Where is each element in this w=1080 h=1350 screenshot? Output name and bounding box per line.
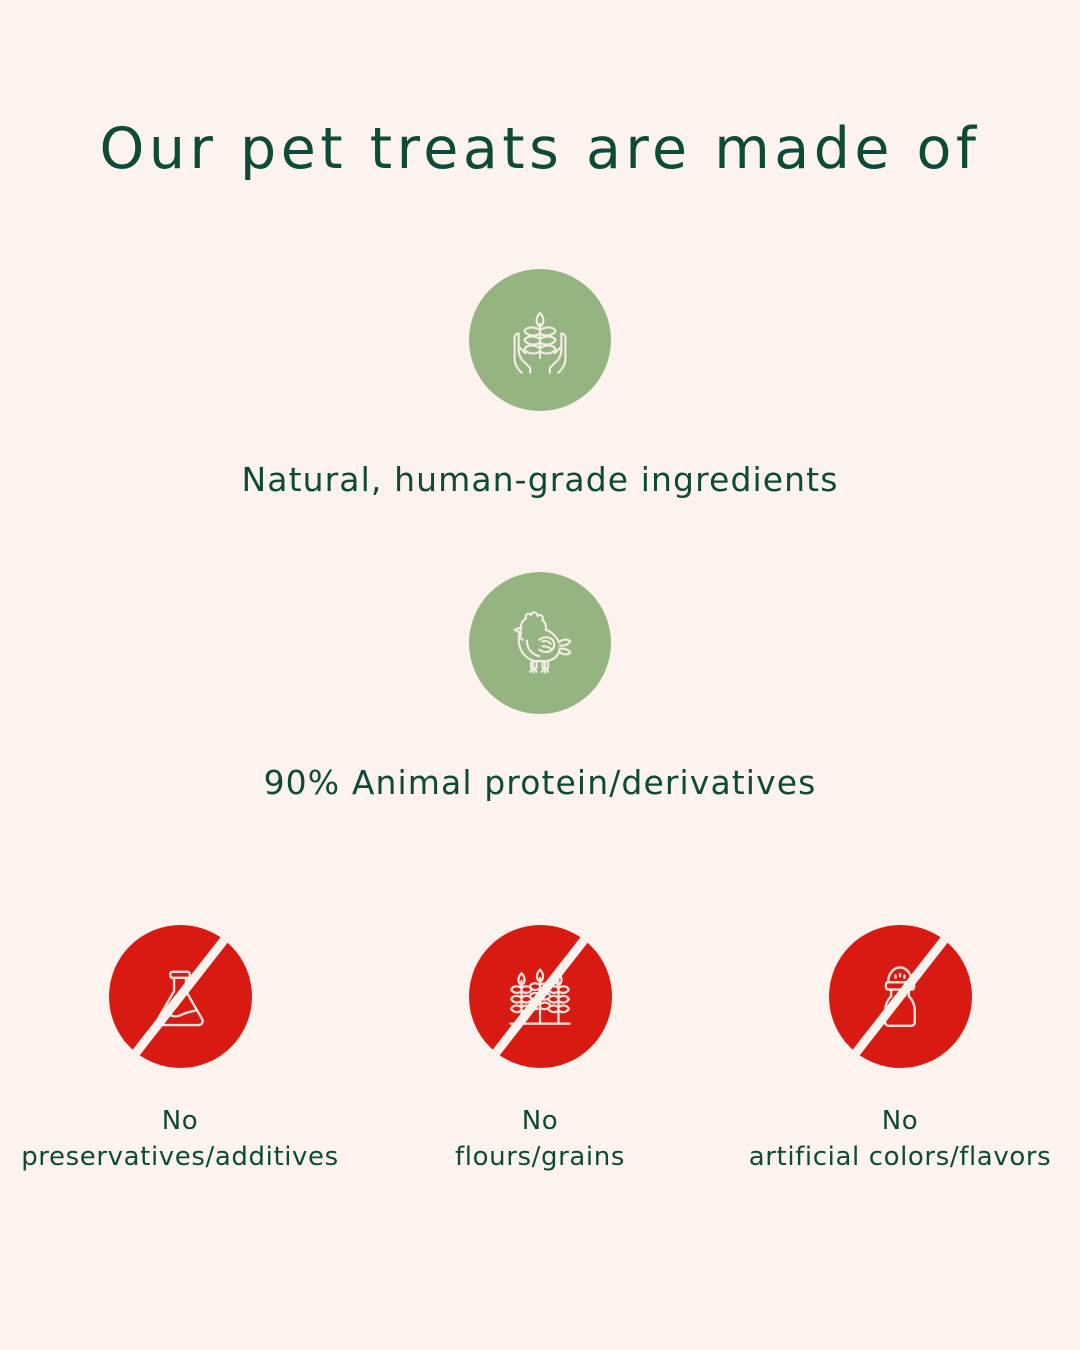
slash-line [120, 925, 240, 1068]
chicken-icon [469, 572, 611, 714]
feature-natural-ingredients: Natural, human-grade ingredients [0, 269, 1080, 500]
page-title: Our pet treats are made of [0, 118, 1080, 181]
exclusion-label: Nopreservatives/additives [21, 1104, 339, 1176]
exclusion-grains: Noflours/grains [360, 925, 720, 1176]
exclusion-artificial-colors: Noartificial colors/flavors [720, 925, 1080, 1176]
red-circle-background [829, 925, 972, 1068]
slash-line [480, 925, 600, 1068]
exclusion-label-line2: preservatives/additives [21, 1142, 339, 1172]
feature-animal-protein: 90% Animal protein/derivatives [0, 572, 1080, 803]
hands-holding-wheat-icon [469, 269, 611, 411]
feature-label: 90% Animal protein/derivatives [0, 762, 1080, 803]
exclusion-label-line1: No [162, 1106, 199, 1136]
red-circle-background [109, 925, 252, 1068]
exclusion-label-line2: flours/grains [455, 1142, 625, 1172]
exclusions-row: Nopreservatives/additives [0, 925, 1080, 1176]
no-wheat-icon [469, 925, 612, 1068]
exclusion-label-line2: artificial colors/flavors [749, 1142, 1052, 1172]
slash-line [840, 925, 960, 1068]
red-circle-background [469, 925, 612, 1068]
infographic-poster: Our pet treats are made of [0, 0, 1080, 1350]
no-salt-shaker-icon [829, 925, 972, 1068]
exclusion-preservatives: Nopreservatives/additives [0, 925, 360, 1176]
exclusion-label: Noartificial colors/flavors [749, 1104, 1052, 1176]
exclusion-label-line1: No [522, 1106, 559, 1136]
exclusion-label: Noflours/grains [455, 1104, 625, 1176]
no-flask-icon [109, 925, 252, 1068]
feature-label: Natural, human-grade ingredients [0, 459, 1080, 500]
exclusion-label-line1: No [882, 1106, 919, 1136]
